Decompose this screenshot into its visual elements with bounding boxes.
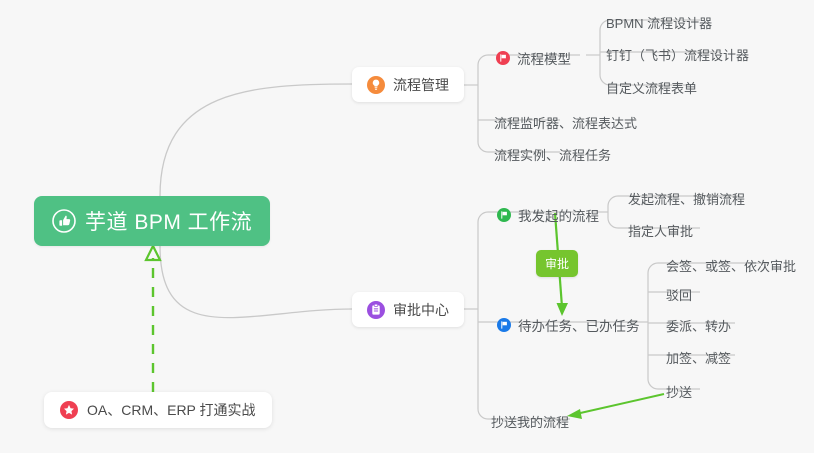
node-delegate-transfer[interactable]: 委派、转办 [662, 314, 735, 337]
node-reject[interactable]: 驳回 [662, 283, 696, 306]
flag-icon [497, 208, 511, 222]
node-start-cancel-process[interactable]: 发起流程、撤销流程 [624, 187, 749, 210]
cc-arrow-line [576, 394, 664, 414]
branch-label-approval-center: 审批中心 [393, 300, 449, 320]
node-label-process-listener: 流程监听器、流程表达式 [494, 113, 637, 132]
node-label-dingtalk-designer: 钉钉（飞书）流程设计器 [606, 45, 749, 64]
node-label-custom-form: 自定义流程表单 [606, 78, 697, 97]
node-label-process-model: 流程模型 [517, 48, 571, 68]
node-process-model[interactable]: 流程模型 [492, 46, 575, 70]
flag-icon [497, 318, 511, 332]
node-label-process-instance: 流程实例、流程任务 [494, 145, 611, 164]
node-dingtalk-designer[interactable]: 钉钉（飞书）流程设计器 [602, 43, 753, 66]
clipboard-icon [367, 301, 385, 319]
node-process-instance[interactable]: 流程实例、流程任务 [490, 143, 615, 166]
node-label-cc: 抄送 [666, 382, 692, 401]
flag-icon [496, 51, 510, 65]
link-root-to-process-management [160, 84, 352, 196]
lightbulb-icon [367, 76, 385, 94]
branch-node-approval-center[interactable]: 审批中心 [352, 292, 464, 327]
node-label-delegate-transfer: 委派、转办 [666, 316, 731, 335]
node-assignee-approval[interactable]: 指定人审批 [624, 219, 697, 242]
link-root-to-approval-center [160, 246, 352, 318]
node-label-countersign: 会签、或签、依次审批 [666, 256, 796, 275]
thumbs-up-icon [52, 209, 76, 233]
mindmap-canvas: 芋道 BPM 工作流 流程管理 流程模型 BPMN 流程设计器 钉钉（飞书）流程 [0, 0, 814, 453]
node-countersign[interactable]: 会签、或签、依次审批 [662, 254, 800, 277]
node-label-my-initiated-processes: 我发起的流程 [518, 205, 599, 225]
node-label-cc-to-me: 抄送我的流程 [491, 412, 569, 431]
node-process-listener[interactable]: 流程监听器、流程表达式 [490, 111, 641, 134]
star-icon [60, 401, 78, 419]
node-label-assignee-approval: 指定人审批 [628, 221, 693, 240]
approval-badge-label: 审批 [545, 257, 569, 271]
node-todo-done-tasks[interactable]: 待办任务、已办任务 [493, 313, 644, 337]
branch-label-process-management: 流程管理 [393, 75, 449, 95]
root-node-label: 芋道 BPM 工作流 [85, 206, 252, 236]
node-label-start-cancel-process: 发起流程、撤销流程 [628, 189, 745, 208]
approval-badge[interactable]: 审批 [536, 250, 578, 277]
node-cc-to-me[interactable]: 抄送我的流程 [487, 410, 573, 433]
integration-callout-label: OA、CRM、ERP 打通实战 [87, 400, 256, 420]
node-label-reject: 驳回 [666, 285, 692, 304]
integration-callout-node[interactable]: OA、CRM、ERP 打通实战 [44, 392, 272, 428]
node-label-add-remove-sign: 加签、减签 [666, 348, 731, 367]
branch-node-process-management[interactable]: 流程管理 [352, 67, 464, 102]
node-label-bpmn-designer: BPMN 流程设计器 [606, 13, 712, 32]
node-cc[interactable]: 抄送 [662, 380, 696, 403]
integration-callout-arrow-head [146, 246, 160, 260]
root-node[interactable]: 芋道 BPM 工作流 [34, 196, 270, 246]
node-custom-form[interactable]: 自定义流程表单 [602, 76, 701, 99]
node-label-todo-done-tasks: 待办任务、已办任务 [518, 315, 640, 335]
node-my-initiated-processes[interactable]: 我发起的流程 [493, 203, 603, 227]
node-add-remove-sign[interactable]: 加签、减签 [662, 346, 735, 369]
node-bpmn-designer[interactable]: BPMN 流程设计器 [602, 11, 716, 34]
